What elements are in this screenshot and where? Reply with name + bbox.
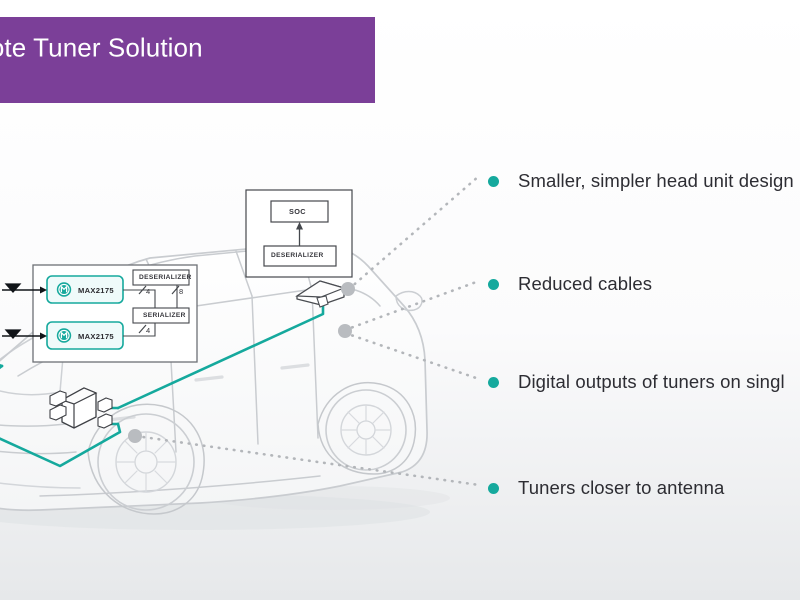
bullet-dot-icon bbox=[488, 279, 499, 290]
bus-width-label-3: 4 bbox=[146, 326, 150, 335]
list-item[interactable]: Reduced cables bbox=[488, 273, 652, 295]
bullet-dot-icon bbox=[488, 176, 499, 187]
list-item[interactable]: Digital outputs of tuners on singl bbox=[488, 371, 785, 393]
title-banner: o Bits® Remote Tuner Solution X2175 bbox=[0, 17, 375, 103]
head-unit-deserializer-label: DESERIALIZER bbox=[271, 252, 324, 259]
tuner-deserializer-label: DESERIALIZER bbox=[139, 274, 192, 281]
head-unit-block-diagram bbox=[246, 190, 352, 277]
slide-canvas: o Bits® Remote Tuner Solution X2175 SOC … bbox=[0, 0, 800, 600]
bus-width-label-2: 8 bbox=[179, 287, 183, 296]
list-item[interactable]: Smaller, simpler head unit design bbox=[488, 170, 794, 192]
tuner-serializer-label: SERIALIZER bbox=[143, 312, 186, 319]
slide-subtitle: X2175 bbox=[0, 65, 375, 93]
list-item-label: Tuners closer to antenna bbox=[518, 477, 724, 499]
list-item-label: Smaller, simpler head unit design bbox=[518, 170, 794, 192]
list-item[interactable]: Tuners closer to antenna bbox=[488, 477, 724, 499]
bullet-dot-icon bbox=[488, 377, 499, 388]
list-item-label: Digital outputs of tuners on singl bbox=[518, 371, 785, 393]
tuner-part-label-2: MAX2175 bbox=[78, 332, 114, 341]
soc-label: SOC bbox=[289, 207, 306, 216]
benefits-list: Smaller, simpler head unit design Reduce… bbox=[488, 0, 800, 600]
bus-width-label-1: 4 bbox=[146, 287, 150, 296]
slide-title: o Bits® Remote Tuner Solution bbox=[0, 26, 375, 65]
list-item-label: Reduced cables bbox=[518, 273, 652, 295]
bullet-dot-icon bbox=[488, 483, 499, 494]
tuner-part-label-1: MAX2175 bbox=[78, 286, 114, 295]
